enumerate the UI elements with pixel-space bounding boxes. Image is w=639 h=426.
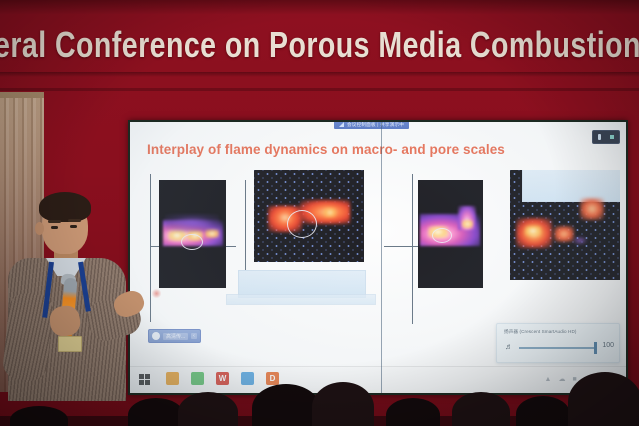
audience-head-6 [452,392,510,426]
presenter-hair [39,192,91,222]
conference-presentation-photo: eral Conference on Porous Media Combusti… [0,0,639,426]
screen-share-button[interactable]: 高清传... ‹ [148,329,201,343]
audience-head-7 [516,396,570,426]
audience-head-1 [128,398,184,426]
figure-macro-flame-left [159,180,226,288]
share-user-icon [152,332,160,340]
guide-line-vertical-right [412,174,413,324]
share-button-label: 高清传... [163,333,188,340]
figure-macro-flame-right [418,180,483,288]
backdrop-seam-lower [0,88,639,91]
presenter-speaker [2,186,144,401]
highlight-circle-3 [432,228,452,243]
media-control-widget[interactable] [592,130,620,144]
highlight-circle-2 [287,210,317,238]
volume-slider-thumb[interactable] [594,342,597,354]
conference-banner: eral Conference on Porous Media Combusti… [0,14,639,76]
pore-flame-satellite-a [554,226,574,242]
taskbar-icon-pdf[interactable]: D [266,372,279,385]
taskbar-icon-explorer[interactable] [241,372,254,385]
taskbar-icon-writer[interactable]: W [216,372,229,385]
guide-line-vertical-left [150,174,151,322]
slide-overlay-panel-strip [226,294,376,305]
figure-pore-flame-right [510,170,620,280]
chevron-left-icon[interactable]: ‹ [191,333,197,339]
volume-device-label: 扬声器 (Crescent SmartAudio HD) [504,329,577,335]
presenter-eyebrow-right [68,219,81,222]
pore-flame-wisp [572,236,588,245]
highlight-circle-1 [181,234,203,250]
volume-slider-fill [519,347,597,349]
projector-screen: 会议控制面板 | 共享演示中 Interplay of flame dynami… [130,122,626,393]
signal-icon [339,122,344,127]
audience-head-8 [568,372,639,426]
banner-title: eral Conference on Porous Media Combusti… [0,24,639,66]
slide-title: Interplay of flame dynamics on macro- an… [147,142,505,157]
presenter-ear [35,222,44,235]
windows-taskbar: W D ▲ ☁ ■ ♬ 中 ⚙ [130,366,626,393]
volume-value: 100 [602,342,614,349]
taskbar-icon-browser[interactable] [191,372,204,385]
speaker-icon[interactable]: ♬ [505,343,513,351]
pore-flame-hot-core [324,208,336,217]
taskbar-app-icons: W D [166,372,279,385]
media-stop-icon [610,135,614,139]
pore-inset-panel [522,170,620,202]
taskbar-icon-wps[interactable] [166,372,179,385]
backdrop-top-shadow [0,0,639,14]
audience-head-2 [178,392,238,426]
flame-halo-violet [165,214,219,232]
presenter-name-badge [58,336,82,352]
pore-flame-satellite-b [580,198,604,220]
media-indicator-icon [598,134,601,140]
volume-flyout[interactable]: 扬声器 (Crescent SmartAudio HD) ♬ 100 [496,323,620,363]
audience-head-3 [252,384,320,426]
presenter-eyebrow-left [48,220,61,223]
audience-head-4 [312,382,374,426]
screen-panel-seam [381,122,382,393]
flame-core-right-b [462,220,473,228]
slide-marker-icon [152,288,161,299]
presenter-eye-left [51,226,58,229]
presenter-eye-right [70,225,77,228]
pore-flame-core-right [525,226,541,236]
meeting-info-pill[interactable]: 会议控制面板 | 共享演示中 [334,122,409,129]
figure-pore-flame-left [254,170,364,262]
meeting-info-label: 会议控制面板 | 共享演示中 [347,122,404,128]
tray-icon-cloud[interactable]: ☁ [558,375,565,383]
audience-head-5 [386,398,440,426]
tray-icon-network[interactable]: ▲ [545,376,552,383]
